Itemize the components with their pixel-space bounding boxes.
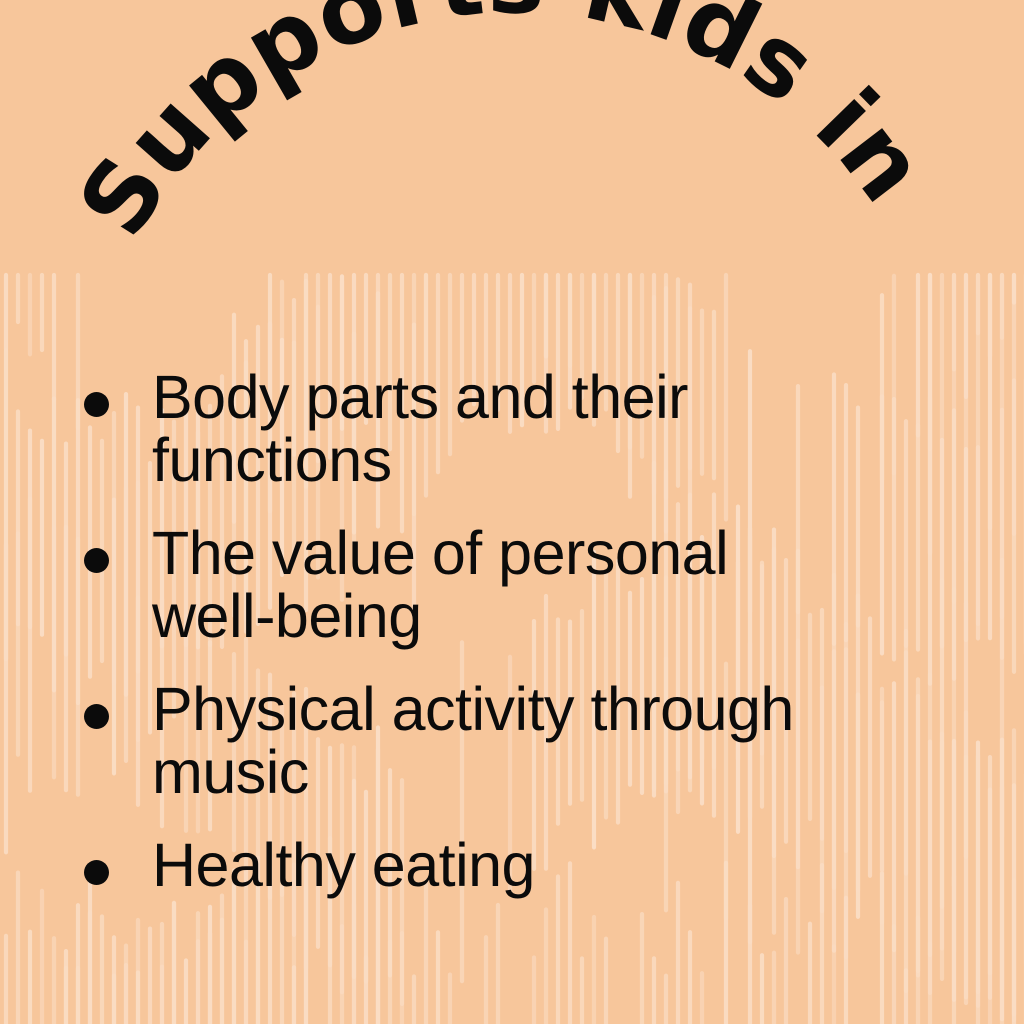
bullet-dot-icon — [70, 678, 152, 729]
arched-title: Supports kids in: — [0, 0, 1024, 300]
bullet-dot-icon — [70, 366, 152, 417]
title-text: Supports kids in: — [0, 0, 948, 255]
list-item: The value of personal well-being — [70, 522, 970, 648]
title-textpath: Supports kids in: — [0, 0, 948, 255]
list-item: Healthy eating — [70, 834, 970, 897]
list-item-label: Physical activity through music — [152, 678, 970, 804]
list-item: Body parts and their functions — [70, 366, 970, 492]
poster-canvas: Supports kids in: Body parts and their f… — [0, 0, 1024, 1024]
bullet-dot-icon — [70, 834, 152, 885]
list-item-label: Healthy eating — [152, 834, 970, 897]
bullet-dot-icon — [70, 522, 152, 573]
list-item-label: The value of personal well-being — [152, 522, 970, 648]
list-item: Physical activity through music — [70, 678, 970, 804]
bullet-list: Body parts and their functions The value… — [70, 366, 970, 927]
list-item-label: Body parts and their functions — [152, 366, 970, 492]
